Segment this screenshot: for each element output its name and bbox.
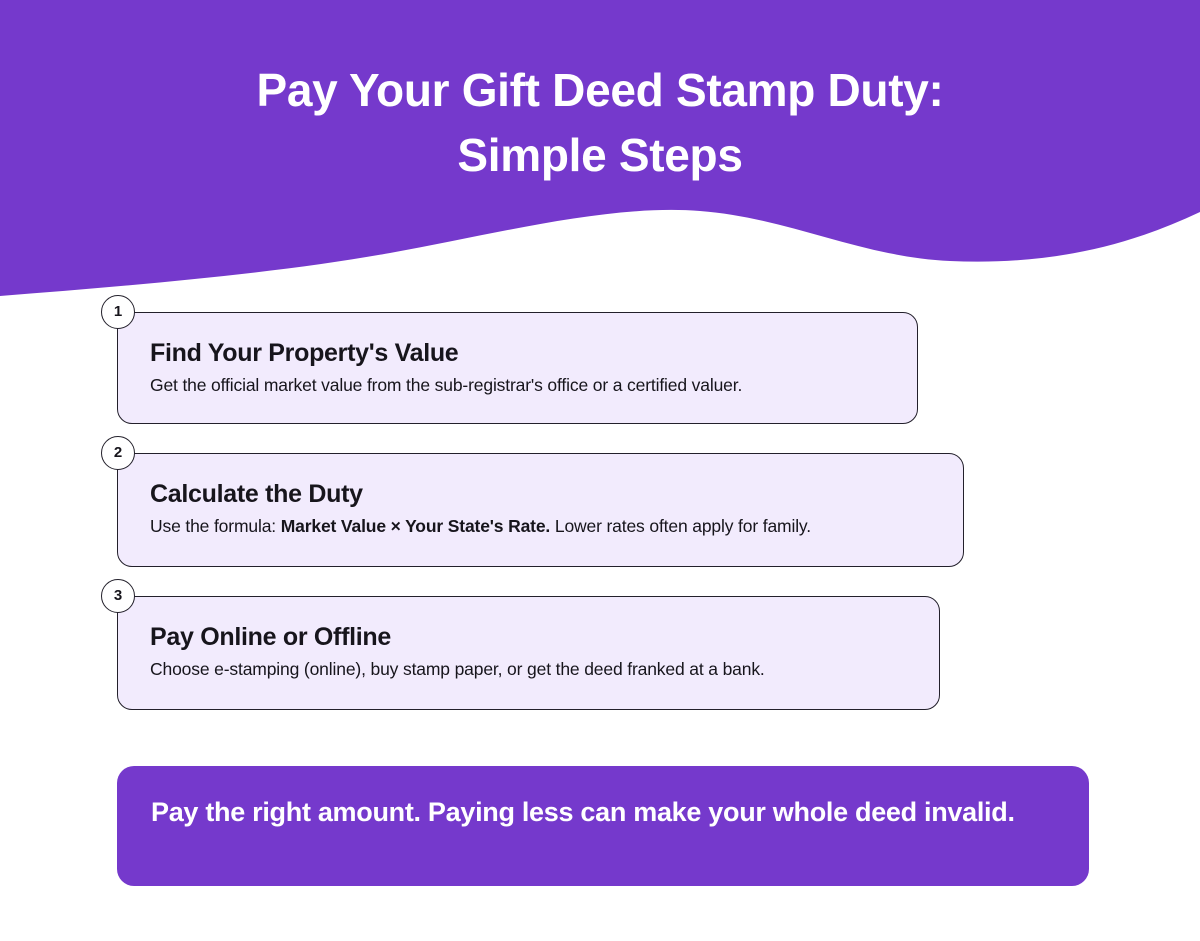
step-description-1-prefix: Get the official market value from the s… (150, 375, 742, 395)
header-banner: Pay Your Gift Deed Stamp Duty: Simple St… (0, 0, 1200, 310)
step-number-badge-3: 3 (101, 579, 135, 613)
page-title-line-2: Simple Steps (0, 123, 1200, 188)
step-description-2-suffix: Lower rates often apply for family. (550, 516, 811, 536)
step-title-2: Calculate the Duty (150, 480, 937, 510)
step-description-1: Get the official market value from the s… (150, 374, 891, 397)
warning-callout-banner: Pay the right amount. Paying less can ma… (117, 766, 1089, 886)
step-title-3: Pay Online or Offline (150, 623, 913, 653)
step-card-3: 3 Pay Online or Offline Choose e-stampin… (117, 596, 940, 710)
step-card-1: 1 Find Your Property's Value Get the off… (117, 312, 918, 424)
warning-callout-text: Pay the right amount. Paying less can ma… (151, 792, 1053, 834)
step-card-2: 2 Calculate the Duty Use the formula: Ma… (117, 453, 964, 567)
step-number-badge-2: 2 (101, 436, 135, 470)
page-title-line-1: Pay Your Gift Deed Stamp Duty: (0, 58, 1200, 123)
step-title-1: Find Your Property's Value (150, 339, 891, 369)
page-title: Pay Your Gift Deed Stamp Duty: Simple St… (0, 58, 1200, 189)
steps-list: 1 Find Your Property's Value Get the off… (0, 312, 1200, 739)
step-number-badge-1: 1 (101, 295, 135, 329)
step-description-3: Choose e-stamping (online), buy stamp pa… (150, 658, 913, 681)
step-description-3-prefix: Choose e-stamping (online), buy stamp pa… (150, 659, 765, 679)
step-description-2-prefix: Use the formula: (150, 516, 281, 536)
step-description-2: Use the formula: Market Value × Your Sta… (150, 515, 937, 538)
step-description-2-bold: Market Value × Your State's Rate. (281, 516, 550, 536)
